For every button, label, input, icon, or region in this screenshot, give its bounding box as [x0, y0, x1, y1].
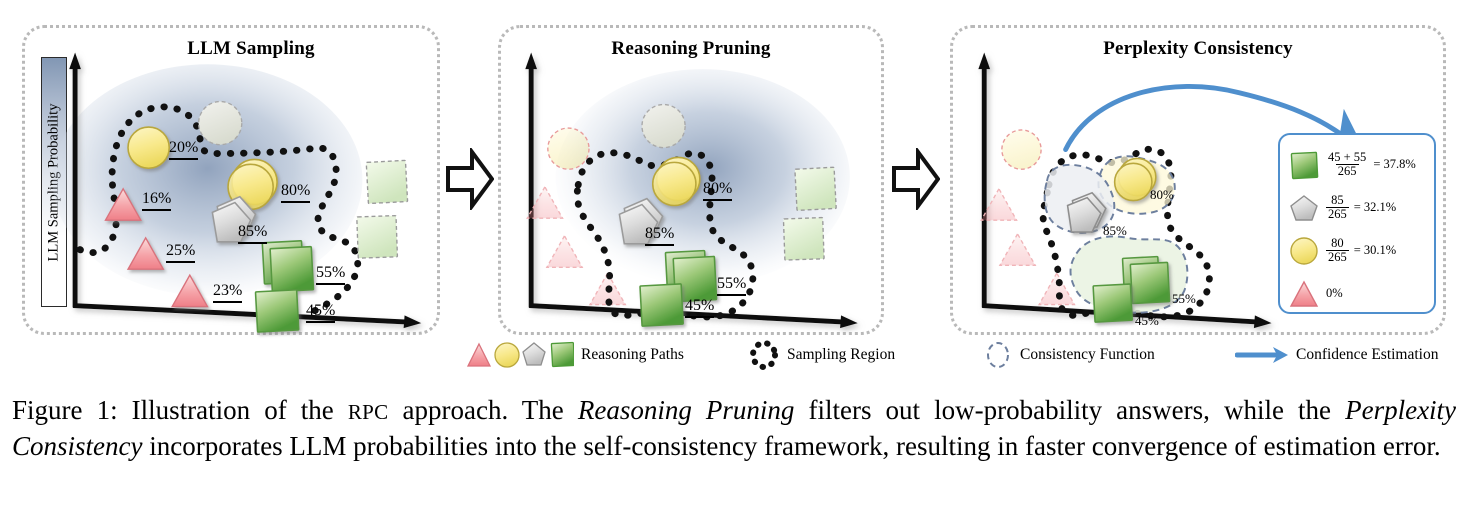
result-square: = 37.8%: [1373, 157, 1415, 172]
figure-legend: Reasoning Paths Sampling Region Consiste…: [0, 338, 1468, 372]
caption-part3: filters out low-probability answers, whi…: [809, 395, 1332, 425]
label-85pct: 85%: [1103, 224, 1127, 239]
label-55pct: 55%: [717, 276, 746, 296]
label-85pct: 85%: [645, 226, 674, 246]
label-23pct: 23%: [213, 283, 242, 303]
label-16pct: 16%: [142, 191, 171, 211]
legend-label-confidence-estimation: Confidence Estimation: [1296, 346, 1438, 364]
confidence-row-circle: 80 265 = 30.1%: [1288, 229, 1428, 272]
label-85pct: 85%: [238, 224, 267, 244]
faded-square-1: [366, 160, 407, 203]
numerator-square: 45 + 55: [1326, 151, 1368, 165]
confidence-math-circle: 80 265 = 30.1%: [1323, 237, 1396, 265]
legend-label-consistency-function: Consistency Function: [1020, 346, 1155, 364]
caption-part4: incorporates LLM probabilities into the …: [149, 431, 1440, 461]
legend-item-confidence-estimation: Confidence Estimation: [1235, 338, 1438, 372]
caption-part1: Illustration of the: [132, 395, 334, 425]
result-pentagon: = 32.1%: [1354, 200, 1396, 215]
faded-square-2: [357, 216, 398, 259]
faded-circle-1: [642, 104, 685, 147]
faded-square-2: [783, 218, 824, 261]
denominator-pentagon: 265: [1326, 207, 1349, 222]
denominator-square: 265: [1336, 164, 1359, 179]
shape-square-45: [1093, 284, 1132, 322]
result-circle: = 30.1%: [1354, 243, 1396, 258]
faded-circle-1: [199, 102, 242, 145]
pruned-circle-1: [548, 128, 589, 169]
numerator-pentagon: 85: [1329, 194, 1346, 208]
confidence-row-pentagon: 85 265 = 32.1%: [1288, 186, 1428, 229]
figure-root: LLM Sampling LLM Sampling Probability: [0, 0, 1468, 528]
legend-item-consistency-function: Consistency Function: [983, 338, 1155, 372]
denominator-circle: 265: [1326, 250, 1349, 265]
label-55pct: 55%: [1172, 292, 1196, 307]
pentagon-icon: [1288, 193, 1320, 223]
confidence-row-square: 45 + 55 265 = 37.8%: [1288, 143, 1428, 186]
confidence-estimation-box: 45 + 55 265 = 37.8% 85 265: [1278, 133, 1436, 314]
label-80pct: 80%: [1150, 188, 1174, 203]
faded-square-1: [795, 167, 836, 210]
panel-llm-sampling: LLM Sampling LLM Sampling Probability: [22, 25, 440, 335]
pruned-triangle-2: [1000, 234, 1035, 265]
circle-icon: [1288, 236, 1320, 266]
step-arrow-1-icon: [446, 148, 494, 210]
label-45pct: 45%: [1135, 314, 1159, 329]
caption-prefix: Figure 1:: [12, 395, 118, 425]
caption-italic-reasoning-pruning: Reasoning Pruning: [578, 395, 795, 425]
label-80pct: 80%: [703, 181, 732, 201]
label-20pct: 20%: [169, 140, 198, 160]
panel-reasoning-pruning: Reasoning Pruning: [498, 25, 884, 335]
panel-2-graphics: [501, 28, 881, 332]
shape-square-45: [255, 290, 298, 332]
pruned-triangle-2: [547, 236, 582, 267]
figure-caption: Figure 1: Illustration of the RPC approa…: [12, 392, 1456, 464]
legend-item-reasoning-paths: Reasoning Paths: [466, 338, 684, 372]
reasoning-path-shapes-icon: [466, 340, 574, 370]
confidence-row-triangle: 0%: [1288, 272, 1428, 315]
label-25pct: 25%: [166, 243, 195, 263]
confidence-math-pentagon: 85 265 = 32.1%: [1323, 194, 1396, 222]
label-45pct: 45%: [685, 298, 714, 318]
square-icon: [1288, 150, 1320, 180]
legend-item-sampling-region: Sampling Region: [748, 338, 895, 372]
result-triangle: 0%: [1326, 286, 1343, 301]
shape-circle-20: [128, 127, 169, 168]
confidence-estimation-arrow-icon: [1235, 340, 1289, 370]
numerator-circle: 80: [1329, 237, 1346, 251]
label-80pct: 80%: [281, 183, 310, 203]
sampling-region-icon: [748, 340, 780, 370]
legend-label-reasoning-paths: Reasoning Paths: [581, 346, 684, 364]
label-45pct: 45%: [306, 303, 335, 323]
legend-label-sampling-region: Sampling Region: [787, 346, 895, 364]
panel-perplexity-consistency: Perplexity Consistency: [950, 25, 1446, 335]
step-arrow-2-icon: [892, 148, 940, 210]
pruned-triangle-3: [1039, 273, 1074, 304]
probability-cloud: [53, 64, 363, 295]
consistency-function-icon: [983, 340, 1013, 370]
confidence-math-square: 45 + 55 265 = 37.8%: [1323, 151, 1416, 179]
triangle-icon: [1288, 279, 1320, 309]
pruned-circle-1: [1002, 130, 1041, 169]
label-55pct: 55%: [316, 265, 345, 285]
shape-square-45: [640, 284, 683, 326]
caption-smallcaps-rpc: RPC: [348, 400, 389, 424]
caption-part2: approach. The: [403, 395, 564, 425]
shape-square-55: [262, 241, 313, 292]
